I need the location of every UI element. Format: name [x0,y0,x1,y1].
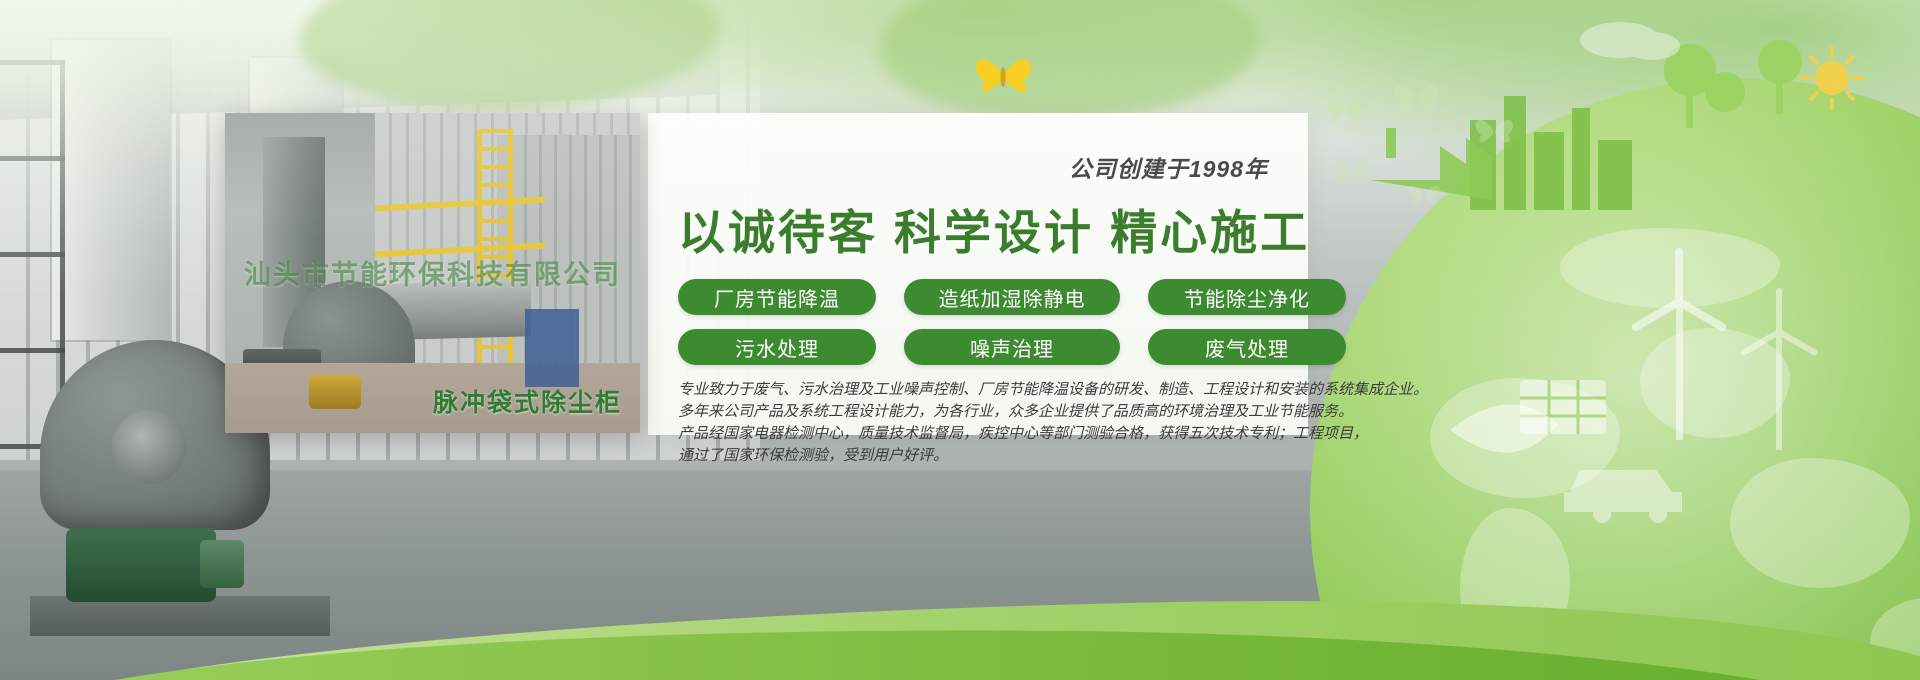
service-pill-sewage-treatment[interactable]: 污水处理 [678,329,876,365]
description-line-4: 通过了国家环保检测验，受到用户好评。 [678,445,1318,467]
service-pill-paper-humidify-antistatic[interactable]: 造纸加湿除静电 [904,279,1120,315]
content-block: 公司创建于1998年 以诚待客 科学设计 精心施工 厂房节能降温 造纸加湿除静电… [678,150,1378,467]
headline-slogan: 以诚待客 科学设计 精心施工 [678,194,1278,263]
promotional-banner: 汕头市节能环保科技有限公司 脉冲袋式除尘柜 公司创建于1998年 以诚待客 科学… [0,0,1920,680]
project-photo-card: 汕头市节能环保科技有限公司 脉冲袋式除尘柜 [225,113,640,433]
description-line-2: 多年来公司产品及系统工程设计能力，为各行业，众多企业提供了品质高的环境治理及工业… [678,401,1318,423]
photo-watermark: 汕头市节能环保科技有限公司 [225,253,640,292]
description-line-3: 产品经国家电器检测中心，质量技术监督局，疾控中心等部门测验合格，获得五次技术专利… [678,423,1318,445]
service-pill-factory-cooling[interactable]: 厂房节能降温 [678,279,876,315]
service-pill-row-1: 厂房节能降温 造纸加湿除静电 节能除尘净化 [678,279,1288,315]
photo-caption: 脉冲袋式除尘柜 [433,383,622,419]
service-pill-exhaust-gas-treatment[interactable]: 废气处理 [1148,329,1346,365]
description-line-1: 专业致力于废气、污水治理及工业噪声控制、厂房节能降温设备的研发、制造、工程设计和… [678,379,1318,401]
service-pill-group: 厂房节能降温 造纸加湿除静电 节能除尘净化 污水处理 噪声治理 废气处理 [678,279,1288,365]
established-year-text: 公司创建于1998年 [678,150,1268,184]
service-pill-energy-dust-purification[interactable]: 节能除尘净化 [1148,279,1346,315]
service-pill-row-2: 污水处理 噪声治理 废气处理 [678,329,1288,365]
company-description: 专业致力于废气、污水治理及工业噪声控制、厂房节能降温设备的研发、制造、工程设计和… [678,379,1318,467]
service-pill-noise-control[interactable]: 噪声治理 [904,329,1120,365]
